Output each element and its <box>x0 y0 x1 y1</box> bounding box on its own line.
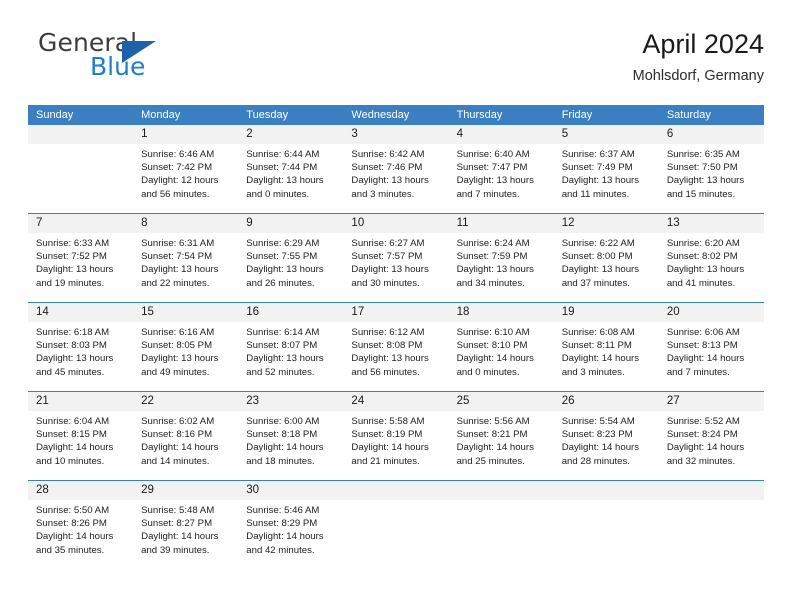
sunrise-text: Sunrise: 6:04 AM <box>36 415 127 428</box>
day-cell[interactable]: 27Sunrise: 5:52 AMSunset: 8:24 PMDayligh… <box>659 392 764 480</box>
day-number: 19 <box>554 303 659 322</box>
weekday-header-tuesday: Tuesday <box>238 105 343 125</box>
day-cell[interactable]: 18Sunrise: 6:10 AMSunset: 8:10 PMDayligh… <box>449 303 554 391</box>
day-details: Sunrise: 6:20 AMSunset: 8:02 PMDaylight:… <box>659 233 764 290</box>
daylight-text: Daylight: 14 hours and 39 minutes. <box>141 530 232 556</box>
daylight-text: Daylight: 13 hours and 19 minutes. <box>36 263 127 289</box>
weekday-header-thursday: Thursday <box>449 105 554 125</box>
day-number: 15 <box>133 303 238 322</box>
sunrise-text: Sunrise: 5:48 AM <box>141 504 232 517</box>
day-cell[interactable]: 22Sunrise: 6:02 AMSunset: 8:16 PMDayligh… <box>133 392 238 480</box>
title-block: April 2024 Mohlsdorf, Germany <box>633 28 764 85</box>
calendar-week-row: 14Sunrise: 6:18 AMSunset: 8:03 PMDayligh… <box>28 302 764 391</box>
calendar-week-row: 7Sunrise: 6:33 AMSunset: 7:52 PMDaylight… <box>28 213 764 302</box>
daylight-text: Daylight: 14 hours and 35 minutes. <box>36 530 127 556</box>
day-cell[interactable]: 19Sunrise: 6:08 AMSunset: 8:11 PMDayligh… <box>554 303 659 391</box>
daylight-text: Daylight: 12 hours and 56 minutes. <box>141 174 232 200</box>
sunrise-text: Sunrise: 6:08 AM <box>562 326 653 339</box>
day-details: Sunrise: 5:56 AMSunset: 8:21 PMDaylight:… <box>449 411 554 468</box>
day-details: Sunrise: 6:31 AMSunset: 7:54 PMDaylight:… <box>133 233 238 290</box>
sunset-text: Sunset: 8:19 PM <box>351 428 442 441</box>
day-number: 9 <box>238 214 343 233</box>
day-details: Sunrise: 5:58 AMSunset: 8:19 PMDaylight:… <box>343 411 448 468</box>
sunset-text: Sunset: 7:50 PM <box>667 161 758 174</box>
sunset-text: Sunset: 8:27 PM <box>141 517 232 530</box>
day-cell[interactable]: 11Sunrise: 6:24 AMSunset: 7:59 PMDayligh… <box>449 214 554 302</box>
day-cell[interactable]: 4Sunrise: 6:40 AMSunset: 7:47 PMDaylight… <box>449 125 554 213</box>
daylight-text: Daylight: 14 hours and 32 minutes. <box>667 441 758 467</box>
sunrise-text: Sunrise: 6:20 AM <box>667 237 758 250</box>
day-cell-empty <box>28 125 133 213</box>
day-details: Sunrise: 6:14 AMSunset: 8:07 PMDaylight:… <box>238 322 343 379</box>
day-number: 18 <box>449 303 554 322</box>
day-number <box>554 481 659 500</box>
sunrise-text: Sunrise: 6:40 AM <box>457 148 548 161</box>
sunset-text: Sunset: 8:21 PM <box>457 428 548 441</box>
day-details: Sunrise: 6:33 AMSunset: 7:52 PMDaylight:… <box>28 233 133 290</box>
daylight-text: Daylight: 13 hours and 7 minutes. <box>457 174 548 200</box>
day-cell[interactable]: 26Sunrise: 5:54 AMSunset: 8:23 PMDayligh… <box>554 392 659 480</box>
sunset-text: Sunset: 7:42 PM <box>141 161 232 174</box>
day-number: 28 <box>28 481 133 500</box>
day-details: Sunrise: 5:54 AMSunset: 8:23 PMDaylight:… <box>554 411 659 468</box>
day-cell[interactable]: 17Sunrise: 6:12 AMSunset: 8:08 PMDayligh… <box>343 303 448 391</box>
sunrise-text: Sunrise: 6:24 AM <box>457 237 548 250</box>
day-number: 12 <box>554 214 659 233</box>
page-subtitle: Mohlsdorf, Germany <box>633 67 764 85</box>
sunset-text: Sunset: 8:23 PM <box>562 428 653 441</box>
weekday-header-row: SundayMondayTuesdayWednesdayThursdayFrid… <box>28 105 764 125</box>
sunset-text: Sunset: 8:05 PM <box>141 339 232 352</box>
day-number: 17 <box>343 303 448 322</box>
day-cell[interactable]: 12Sunrise: 6:22 AMSunset: 8:00 PMDayligh… <box>554 214 659 302</box>
weekday-header-monday: Monday <box>133 105 238 125</box>
sunrise-text: Sunrise: 6:00 AM <box>246 415 337 428</box>
day-cell[interactable]: 5Sunrise: 6:37 AMSunset: 7:49 PMDaylight… <box>554 125 659 213</box>
sunset-text: Sunset: 8:16 PM <box>141 428 232 441</box>
sunset-text: Sunset: 7:57 PM <box>351 250 442 263</box>
day-cell-empty <box>343 481 448 569</box>
sunrise-text: Sunrise: 6:18 AM <box>36 326 127 339</box>
sunrise-text: Sunrise: 6:06 AM <box>667 326 758 339</box>
daylight-text: Daylight: 14 hours and 3 minutes. <box>562 352 653 378</box>
day-details: Sunrise: 6:16 AMSunset: 8:05 PMDaylight:… <box>133 322 238 379</box>
day-number: 30 <box>238 481 343 500</box>
day-details: Sunrise: 6:44 AMSunset: 7:44 PMDaylight:… <box>238 144 343 201</box>
sunset-text: Sunset: 7:49 PM <box>562 161 653 174</box>
day-number: 7 <box>28 214 133 233</box>
sunrise-text: Sunrise: 6:35 AM <box>667 148 758 161</box>
day-number: 21 <box>28 392 133 411</box>
daylight-text: Daylight: 13 hours and 26 minutes. <box>246 263 337 289</box>
day-number <box>659 481 764 500</box>
daylight-text: Daylight: 13 hours and 30 minutes. <box>351 263 442 289</box>
sunrise-text: Sunrise: 6:02 AM <box>141 415 232 428</box>
daylight-text: Daylight: 13 hours and 49 minutes. <box>141 352 232 378</box>
brand-name-blue: Blue <box>90 52 145 81</box>
sunrise-text: Sunrise: 6:44 AM <box>246 148 337 161</box>
day-cell[interactable]: 3Sunrise: 6:42 AMSunset: 7:46 PMDaylight… <box>343 125 448 213</box>
day-number: 3 <box>343 125 448 144</box>
day-number: 26 <box>554 392 659 411</box>
day-cell[interactable]: 25Sunrise: 5:56 AMSunset: 8:21 PMDayligh… <box>449 392 554 480</box>
daylight-text: Daylight: 14 hours and 21 minutes. <box>351 441 442 467</box>
sunset-text: Sunset: 7:47 PM <box>457 161 548 174</box>
sunset-text: Sunset: 7:54 PM <box>141 250 232 263</box>
sunrise-text: Sunrise: 5:50 AM <box>36 504 127 517</box>
day-cell[interactable]: 15Sunrise: 6:16 AMSunset: 8:05 PMDayligh… <box>133 303 238 391</box>
daylight-text: Daylight: 13 hours and 45 minutes. <box>36 352 127 378</box>
calendar-week-row: 21Sunrise: 6:04 AMSunset: 8:15 PMDayligh… <box>28 391 764 480</box>
sunset-text: Sunset: 8:03 PM <box>36 339 127 352</box>
day-number: 2 <box>238 125 343 144</box>
day-number <box>449 481 554 500</box>
day-cell[interactable]: 28Sunrise: 5:50 AMSunset: 8:26 PMDayligh… <box>28 481 133 569</box>
day-details: Sunrise: 6:29 AMSunset: 7:55 PMDaylight:… <box>238 233 343 290</box>
calendar-page: General Blue April 2024 Mohlsdorf, Germa… <box>0 0 792 612</box>
sunrise-text: Sunrise: 6:16 AM <box>141 326 232 339</box>
day-details: Sunrise: 6:46 AMSunset: 7:42 PMDaylight:… <box>133 144 238 201</box>
day-cell[interactable]: 2Sunrise: 6:44 AMSunset: 7:44 PMDaylight… <box>238 125 343 213</box>
day-cell[interactable]: 30Sunrise: 5:46 AMSunset: 8:29 PMDayligh… <box>238 481 343 569</box>
daylight-text: Daylight: 13 hours and 3 minutes. <box>351 174 442 200</box>
weekday-header-wednesday: Wednesday <box>343 105 448 125</box>
sunset-text: Sunset: 8:29 PM <box>246 517 337 530</box>
day-details: Sunrise: 6:18 AMSunset: 8:03 PMDaylight:… <box>28 322 133 379</box>
day-details: Sunrise: 5:48 AMSunset: 8:27 PMDaylight:… <box>133 500 238 557</box>
sunrise-text: Sunrise: 5:52 AM <box>667 415 758 428</box>
day-details: Sunrise: 6:40 AMSunset: 7:47 PMDaylight:… <box>449 144 554 201</box>
daylight-text: Daylight: 13 hours and 22 minutes. <box>141 263 232 289</box>
day-cell-empty <box>449 481 554 569</box>
sunset-text: Sunset: 8:00 PM <box>562 250 653 263</box>
page-title: April 2024 <box>633 28 764 60</box>
day-cell[interactable]: 29Sunrise: 5:48 AMSunset: 8:27 PMDayligh… <box>133 481 238 569</box>
day-number: 29 <box>133 481 238 500</box>
day-number <box>343 481 448 500</box>
day-details: Sunrise: 5:50 AMSunset: 8:26 PMDaylight:… <box>28 500 133 557</box>
day-details: Sunrise: 5:52 AMSunset: 8:24 PMDaylight:… <box>659 411 764 468</box>
day-cell[interactable]: 20Sunrise: 6:06 AMSunset: 8:13 PMDayligh… <box>659 303 764 391</box>
day-details: Sunrise: 6:27 AMSunset: 7:57 PMDaylight:… <box>343 233 448 290</box>
sunrise-text: Sunrise: 6:31 AM <box>141 237 232 250</box>
sunset-text: Sunset: 8:26 PM <box>36 517 127 530</box>
day-details: Sunrise: 6:12 AMSunset: 8:08 PMDaylight:… <box>343 322 448 379</box>
day-number: 11 <box>449 214 554 233</box>
day-cell[interactable]: 24Sunrise: 5:58 AMSunset: 8:19 PMDayligh… <box>343 392 448 480</box>
sunrise-text: Sunrise: 6:29 AM <box>246 237 337 250</box>
day-number: 25 <box>449 392 554 411</box>
sunset-text: Sunset: 7:46 PM <box>351 161 442 174</box>
day-number: 24 <box>343 392 448 411</box>
daylight-text: Daylight: 13 hours and 56 minutes. <box>351 352 442 378</box>
day-cell[interactable]: 6Sunrise: 6:35 AMSunset: 7:50 PMDaylight… <box>659 125 764 213</box>
day-cell[interactable]: 1Sunrise: 6:46 AMSunset: 7:42 PMDaylight… <box>133 125 238 213</box>
sunrise-text: Sunrise: 5:58 AM <box>351 415 442 428</box>
day-details: Sunrise: 5:46 AMSunset: 8:29 PMDaylight:… <box>238 500 343 557</box>
day-details: Sunrise: 6:02 AMSunset: 8:16 PMDaylight:… <box>133 411 238 468</box>
daylight-text: Daylight: 14 hours and 25 minutes. <box>457 441 548 467</box>
day-details: Sunrise: 6:00 AMSunset: 8:18 PMDaylight:… <box>238 411 343 468</box>
daylight-text: Daylight: 14 hours and 18 minutes. <box>246 441 337 467</box>
daylight-text: Daylight: 14 hours and 10 minutes. <box>36 441 127 467</box>
weekday-header-friday: Friday <box>554 105 659 125</box>
day-cell[interactable]: 14Sunrise: 6:18 AMSunset: 8:03 PMDayligh… <box>28 303 133 391</box>
day-details: Sunrise: 6:08 AMSunset: 8:11 PMDaylight:… <box>554 322 659 379</box>
sunset-text: Sunset: 8:02 PM <box>667 250 758 263</box>
page-header: General Blue April 2024 Mohlsdorf, Germa… <box>28 28 764 96</box>
day-cell[interactable]: 13Sunrise: 6:20 AMSunset: 8:02 PMDayligh… <box>659 214 764 302</box>
day-number: 13 <box>659 214 764 233</box>
daylight-text: Daylight: 14 hours and 14 minutes. <box>141 441 232 467</box>
day-cell[interactable]: 7Sunrise: 6:33 AMSunset: 7:52 PMDaylight… <box>28 214 133 302</box>
weekday-header-saturday: Saturday <box>659 105 764 125</box>
day-number: 1 <box>133 125 238 144</box>
calendar-weeks: 1Sunrise: 6:46 AMSunset: 7:42 PMDaylight… <box>28 125 764 569</box>
day-details: Sunrise: 6:42 AMSunset: 7:46 PMDaylight:… <box>343 144 448 201</box>
day-number: 23 <box>238 392 343 411</box>
daylight-text: Daylight: 14 hours and 42 minutes. <box>246 530 337 556</box>
day-cell[interactable]: 16Sunrise: 6:14 AMSunset: 8:07 PMDayligh… <box>238 303 343 391</box>
day-cell[interactable]: 8Sunrise: 6:31 AMSunset: 7:54 PMDaylight… <box>133 214 238 302</box>
sunset-text: Sunset: 8:13 PM <box>667 339 758 352</box>
daylight-text: Daylight: 14 hours and 0 minutes. <box>457 352 548 378</box>
daylight-text: Daylight: 14 hours and 28 minutes. <box>562 441 653 467</box>
daylight-text: Daylight: 14 hours and 7 minutes. <box>667 352 758 378</box>
day-number: 8 <box>133 214 238 233</box>
day-cell[interactable]: 21Sunrise: 6:04 AMSunset: 8:15 PMDayligh… <box>28 392 133 480</box>
day-number: 20 <box>659 303 764 322</box>
sunset-text: Sunset: 8:18 PM <box>246 428 337 441</box>
sunrise-text: Sunrise: 6:27 AM <box>351 237 442 250</box>
daylight-text: Daylight: 13 hours and 52 minutes. <box>246 352 337 378</box>
calendar-week-row: 1Sunrise: 6:46 AMSunset: 7:42 PMDaylight… <box>28 125 764 213</box>
day-number: 6 <box>659 125 764 144</box>
day-cell-empty <box>554 481 659 569</box>
sunrise-text: Sunrise: 5:56 AM <box>457 415 548 428</box>
calendar-week-row: 28Sunrise: 5:50 AMSunset: 8:26 PMDayligh… <box>28 480 764 569</box>
daylight-text: Daylight: 13 hours and 15 minutes. <box>667 174 758 200</box>
sunrise-text: Sunrise: 5:54 AM <box>562 415 653 428</box>
day-details: Sunrise: 6:37 AMSunset: 7:49 PMDaylight:… <box>554 144 659 201</box>
day-details: Sunrise: 6:24 AMSunset: 7:59 PMDaylight:… <box>449 233 554 290</box>
sunset-text: Sunset: 7:44 PM <box>246 161 337 174</box>
sunrise-text: Sunrise: 6:22 AM <box>562 237 653 250</box>
sunrise-text: Sunrise: 6:10 AM <box>457 326 548 339</box>
day-details: Sunrise: 6:22 AMSunset: 8:00 PMDaylight:… <box>554 233 659 290</box>
day-number: 10 <box>343 214 448 233</box>
calendar-grid: SundayMondayTuesdayWednesdayThursdayFrid… <box>28 105 764 569</box>
sunset-text: Sunset: 7:55 PM <box>246 250 337 263</box>
day-number: 14 <box>28 303 133 322</box>
day-cell[interactable]: 9Sunrise: 6:29 AMSunset: 7:55 PMDaylight… <box>238 214 343 302</box>
sunset-text: Sunset: 8:15 PM <box>36 428 127 441</box>
sunset-text: Sunset: 8:07 PM <box>246 339 337 352</box>
day-details: Sunrise: 6:06 AMSunset: 8:13 PMDaylight:… <box>659 322 764 379</box>
sunrise-text: Sunrise: 6:37 AM <box>562 148 653 161</box>
daylight-text: Daylight: 13 hours and 37 minutes. <box>562 263 653 289</box>
daylight-text: Daylight: 13 hours and 34 minutes. <box>457 263 548 289</box>
day-cell[interactable]: 23Sunrise: 6:00 AMSunset: 8:18 PMDayligh… <box>238 392 343 480</box>
day-number <box>28 125 133 144</box>
sunrise-text: Sunrise: 6:12 AM <box>351 326 442 339</box>
daylight-text: Daylight: 13 hours and 0 minutes. <box>246 174 337 200</box>
daylight-text: Daylight: 13 hours and 41 minutes. <box>667 263 758 289</box>
day-details: Sunrise: 6:35 AMSunset: 7:50 PMDaylight:… <box>659 144 764 201</box>
day-details: Sunrise: 6:04 AMSunset: 8:15 PMDaylight:… <box>28 411 133 468</box>
sunrise-text: Sunrise: 6:14 AM <box>246 326 337 339</box>
day-number: 27 <box>659 392 764 411</box>
day-number: 22 <box>133 392 238 411</box>
day-cell[interactable]: 10Sunrise: 6:27 AMSunset: 7:57 PMDayligh… <box>343 214 448 302</box>
sunset-text: Sunset: 8:24 PM <box>667 428 758 441</box>
sunset-text: Sunset: 8:08 PM <box>351 339 442 352</box>
day-number: 4 <box>449 125 554 144</box>
day-details: Sunrise: 6:10 AMSunset: 8:10 PMDaylight:… <box>449 322 554 379</box>
sunrise-text: Sunrise: 6:42 AM <box>351 148 442 161</box>
weekday-header-sunday: Sunday <box>28 105 133 125</box>
sunset-text: Sunset: 7:52 PM <box>36 250 127 263</box>
daylight-text: Daylight: 13 hours and 11 minutes. <box>562 174 653 200</box>
sunset-text: Sunset: 8:11 PM <box>562 339 653 352</box>
day-number: 5 <box>554 125 659 144</box>
sunset-text: Sunset: 8:10 PM <box>457 339 548 352</box>
sunrise-text: Sunrise: 5:46 AM <box>246 504 337 517</box>
sunrise-text: Sunrise: 6:46 AM <box>141 148 232 161</box>
day-number: 16 <box>238 303 343 322</box>
sunset-text: Sunset: 7:59 PM <box>457 250 548 263</box>
day-cell-empty <box>659 481 764 569</box>
brand-logo[interactable]: General Blue <box>28 28 268 90</box>
sunrise-text: Sunrise: 6:33 AM <box>36 237 127 250</box>
